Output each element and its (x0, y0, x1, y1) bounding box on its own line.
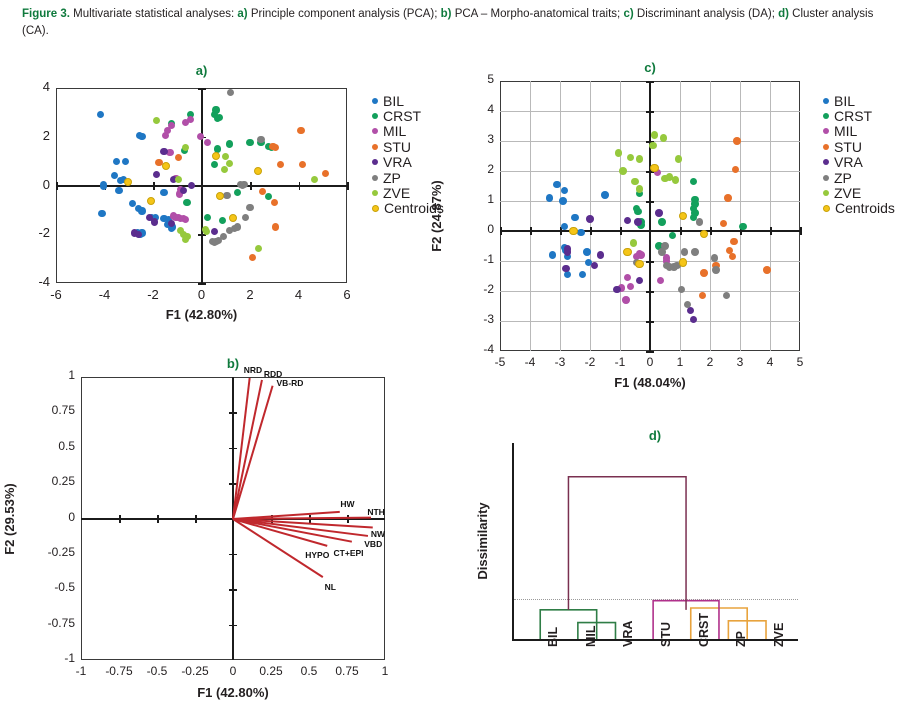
y-tick-label: 0 (14, 177, 50, 192)
y-tick-label: -0.75 (35, 616, 75, 630)
legend-swatch-centroids (372, 205, 379, 212)
legend-swatch-vra (372, 159, 378, 165)
legend-item-centroids: Centroids (823, 201, 895, 216)
y-tick-label: 2 (14, 128, 50, 143)
data-point (100, 181, 107, 188)
dendrogram-leaf-label-vra: VRA (621, 621, 635, 647)
legend-item-mil: MIL (823, 124, 895, 139)
dendrogram-leaf-label-mil: MIL (584, 625, 598, 647)
axis-tick-mark (646, 351, 654, 353)
data-point (138, 133, 145, 140)
legend-item-zve: ZVE (823, 185, 895, 200)
y-tick-label: -4 (458, 342, 494, 356)
legend-swatch-zve (823, 190, 829, 196)
data-point (733, 137, 741, 145)
axis-tick-mark (229, 589, 237, 591)
legend-swatch-centroids (823, 205, 830, 212)
loading-vector-label: VBD (364, 539, 382, 549)
data-point (658, 218, 666, 226)
loading-vector-label: NRD (244, 365, 262, 375)
y-axis-title: F2 (24.87%) (429, 180, 444, 252)
data-point (650, 164, 658, 172)
data-point (649, 142, 657, 150)
data-point (311, 176, 318, 183)
x-axis-title: F1 (42.80%) (81, 685, 385, 700)
loading-vector-label: HW (340, 499, 354, 509)
loading-vector-label: HYPO (305, 550, 329, 560)
data-point (739, 223, 747, 231)
data-point (583, 248, 591, 256)
legend-label-vra: VRA (834, 155, 863, 169)
axis-tick-mark (119, 515, 121, 523)
data-point (138, 207, 145, 214)
data-point (553, 181, 561, 189)
y-tick-label: 2 (458, 162, 494, 176)
data-point (564, 248, 572, 256)
data-point (569, 227, 577, 235)
axis-tick-mark (646, 111, 654, 113)
legend-swatch-crst (823, 113, 829, 119)
data-point (651, 131, 659, 139)
data-point (180, 187, 187, 194)
dendrogram-leaf-label-zp: ZP (734, 631, 748, 647)
y-axis-line (512, 443, 514, 639)
data-point (658, 248, 666, 256)
panel-title: c) (500, 60, 800, 75)
data-point (135, 231, 142, 238)
axis-tick-mark (198, 283, 206, 285)
legend-swatch-vra (823, 159, 829, 165)
data-point (246, 139, 253, 146)
data-point (597, 251, 605, 259)
data-point (660, 134, 668, 142)
legend-swatch-stu (372, 144, 378, 150)
y-tick-label: 0 (458, 222, 494, 236)
caption-key-d: d) (778, 8, 789, 20)
data-point (242, 214, 249, 221)
axis-tick-mark (710, 227, 712, 235)
dendrogram-leaf-label-stu: STU (659, 622, 673, 647)
y-tick-label: -3 (458, 312, 494, 326)
y-tick-label: 0.75 (35, 403, 75, 417)
legend-swatch-mil (372, 128, 378, 134)
loading-vector-label: RDD (264, 369, 282, 379)
data-point (115, 187, 122, 194)
legend-label-zve: ZVE (834, 186, 861, 200)
axis-tick-mark (195, 515, 197, 523)
legend-swatch-mil (823, 128, 829, 134)
data-point (630, 239, 638, 247)
data-point (240, 181, 247, 188)
gridline-vertical (620, 81, 621, 351)
legend-item-zp: ZP (823, 170, 895, 185)
data-point (623, 248, 631, 256)
axis-tick-mark (229, 554, 237, 556)
legend-label-zve: ZVE (383, 186, 410, 200)
axis-tick-mark (198, 88, 206, 90)
legend-label-vra: VRA (383, 155, 412, 169)
data-point (622, 296, 630, 304)
data-point (601, 191, 609, 199)
x-tick-label: 2 (226, 287, 274, 302)
y-tick-label: -2 (14, 225, 50, 240)
y-tick-label: -1 (458, 252, 494, 266)
legend-swatch-zp (823, 175, 829, 181)
x-tick-label: 0 (178, 287, 226, 302)
loading-vector-label: NL (325, 582, 336, 592)
y-tick-label: 4 (14, 79, 50, 94)
x-tick-label: 4 (275, 287, 323, 302)
axis-tick-mark (347, 182, 349, 190)
x-tick-label: 1 (363, 664, 407, 678)
axis-tick-mark (590, 227, 592, 235)
data-point (681, 248, 689, 256)
y-tick-label: 0.5 (35, 439, 75, 453)
y-axis-title: Dissimilarity (475, 502, 490, 579)
data-point (249, 254, 256, 261)
data-point (265, 193, 272, 200)
legend-label-zp: ZP (834, 171, 852, 185)
legend-label-mil: MIL (383, 124, 406, 138)
legend-item-stu: STU (823, 139, 895, 154)
legend-item-vra: VRA (372, 155, 444, 170)
data-point (724, 194, 732, 202)
data-point (113, 158, 120, 165)
legend-label-centroids: Centroids (835, 201, 895, 215)
legend-swatch-zve (372, 190, 378, 196)
axis-line-vertical (649, 81, 651, 351)
gridline-vertical (710, 81, 711, 351)
data-point (223, 192, 230, 199)
y-tick-label: 1 (458, 192, 494, 206)
gridline-vertical (530, 81, 531, 351)
dendrogram-leaf-label-bil: BIL (546, 627, 560, 647)
data-point (122, 158, 129, 165)
caption-key-b: b) (441, 8, 452, 20)
x-axis-title: F1 (48.04%) (500, 375, 800, 390)
data-point (162, 132, 169, 139)
legend-item-stu: STU (372, 139, 444, 154)
legend-label-mil: MIL (834, 124, 857, 138)
legend-label-bil: BIL (834, 94, 855, 108)
legend-swatch-bil (823, 98, 829, 104)
chart-legend: BILCRSTMILSTUVRAZPZVECentroids (823, 93, 895, 216)
axis-tick-mark (157, 515, 159, 523)
legend-item-vra: VRA (823, 155, 895, 170)
data-point (546, 194, 554, 202)
y-tick-label: -4 (14, 274, 50, 289)
data-point (175, 154, 182, 161)
data-point (679, 258, 687, 266)
loading-vector-label: NTH (367, 507, 384, 517)
data-point (234, 223, 241, 230)
legend-swatch-zp (372, 175, 378, 181)
figure-number: Figure 3. (22, 8, 70, 20)
legend-item-bil: BIL (823, 93, 895, 108)
y-tick-label: -0.5 (35, 580, 75, 594)
axis-tick-mark (646, 201, 654, 203)
loading-vector-label: NW (371, 529, 385, 539)
legend-swatch-bil (372, 98, 378, 104)
data-point (696, 218, 704, 226)
caption-text-2: Principle component analysis (PCA); (248, 8, 441, 20)
legend-label-zp: ZP (383, 171, 401, 185)
data-point (257, 136, 264, 143)
axis-tick-mark (646, 321, 654, 323)
axis-tick-mark (229, 412, 237, 414)
y-tick-label: -0.25 (35, 545, 75, 559)
axis-tick-mark (620, 227, 622, 235)
data-point (711, 254, 719, 262)
axis-tick-mark (153, 182, 155, 190)
axis-tick-mark (530, 227, 532, 235)
data-point (619, 167, 627, 175)
data-point (322, 170, 329, 177)
axis-tick-mark (56, 182, 58, 190)
data-point (730, 238, 738, 246)
data-point (634, 218, 642, 226)
y-tick-label: 1 (35, 368, 75, 382)
x-tick-label: -4 (81, 287, 129, 302)
data-point (246, 204, 253, 211)
data-point (212, 106, 219, 113)
data-point (712, 266, 720, 274)
caption-key-a: a) (237, 8, 247, 20)
data-point (147, 197, 155, 205)
y-tick-label: 0.25 (35, 474, 75, 488)
data-point (269, 143, 276, 150)
y-tick-label: 0 (35, 510, 75, 524)
data-point (675, 155, 683, 163)
y-tick-label: 4 (458, 102, 494, 116)
axis-tick-mark (646, 291, 654, 293)
data-point (763, 266, 771, 274)
data-point (559, 197, 567, 205)
gridline-vertical (770, 81, 771, 351)
caption-text-3: PCA – Morpho-anatomical traits; (452, 8, 624, 20)
gridline-vertical (740, 81, 741, 351)
data-point (226, 140, 233, 147)
y-tick-label: -2 (458, 282, 494, 296)
data-point (613, 286, 621, 294)
data-point (562, 265, 570, 273)
caption-text-1: Multivariate statistical analyses: (70, 8, 237, 20)
data-point (571, 214, 579, 222)
axis-tick-mark (680, 227, 682, 235)
axis-tick-mark (229, 448, 237, 450)
legend-label-stu: STU (834, 140, 862, 154)
legend-label-bil: BIL (383, 94, 404, 108)
data-point (175, 176, 182, 183)
axis-tick-mark (770, 227, 772, 235)
panel-title: d) (512, 428, 798, 443)
legend-swatch-crst (372, 113, 378, 119)
data-point (586, 215, 594, 223)
data-point (272, 223, 279, 230)
data-point (215, 237, 222, 244)
y-tick-label: 3 (458, 132, 494, 146)
legend-item-crst: CRST (372, 108, 444, 123)
axis-tick-mark (646, 81, 654, 83)
dendrogram-leaf-label-zve: ZVE (772, 623, 786, 647)
legend-item-crst: CRST (823, 108, 895, 123)
legend-item-bil: BIL (372, 93, 444, 108)
gridline-vertical (560, 81, 561, 351)
legend-label-stu: STU (383, 140, 411, 154)
figure-caption: Figure 3. Multivariate statistical analy… (22, 6, 882, 39)
data-point (636, 185, 644, 193)
data-point (259, 188, 266, 195)
data-point (577, 229, 585, 237)
data-point (271, 199, 278, 206)
data-point (204, 214, 211, 221)
x-tick-label: 5 (776, 355, 824, 369)
dendrogram-link (568, 477, 686, 610)
data-point (655, 209, 663, 217)
data-point (615, 149, 623, 157)
data-point (691, 248, 699, 256)
legend-item-mil: MIL (372, 124, 444, 139)
axis-tick-mark (646, 261, 654, 263)
data-point (160, 189, 167, 196)
axis-tick-mark (800, 227, 802, 235)
legend-label-crst: CRST (383, 109, 421, 123)
panel-title: a) (56, 63, 347, 78)
loading-vector-label: CT+EPI (334, 548, 364, 558)
x-tick-label: 6 (323, 287, 371, 302)
data-point (635, 260, 643, 268)
data-point (700, 269, 708, 277)
axis-tick-mark (229, 625, 237, 627)
data-point (549, 251, 557, 259)
caption-text-4: Discriminant analysis (DA); (634, 8, 778, 20)
axis-tick-mark (500, 227, 502, 235)
data-point (168, 220, 175, 227)
data-point (160, 148, 167, 155)
y-axis-title: F2 (29.53%) (2, 483, 17, 555)
axis-tick-mark (299, 182, 301, 190)
cut-line (514, 599, 798, 600)
x-axis-title: F1 (42.80%) (56, 307, 347, 322)
loading-vector-label: VB-RD (277, 378, 304, 388)
data-point (631, 178, 639, 186)
data-point (636, 155, 644, 163)
data-point (183, 199, 190, 206)
axis-line-vertical (201, 88, 203, 283)
data-point (297, 127, 304, 134)
caption-key-c: c) (623, 8, 633, 20)
legend-swatch-stu (823, 144, 829, 150)
dendrogram-leaf-label-crst: CRST (697, 613, 711, 647)
x-tick-label: -2 (129, 287, 177, 302)
data-point (672, 176, 680, 184)
data-point (151, 218, 158, 225)
data-point (98, 210, 105, 217)
panel-title: b) (81, 356, 385, 371)
x-tick-label: -6 (32, 287, 80, 302)
y-tick-label: -1 (35, 651, 75, 665)
data-point (634, 208, 642, 216)
data-point (124, 178, 132, 186)
legend-label-crst: CRST (834, 109, 872, 123)
y-tick-label: 5 (458, 72, 494, 86)
axis-tick-mark (250, 182, 252, 190)
